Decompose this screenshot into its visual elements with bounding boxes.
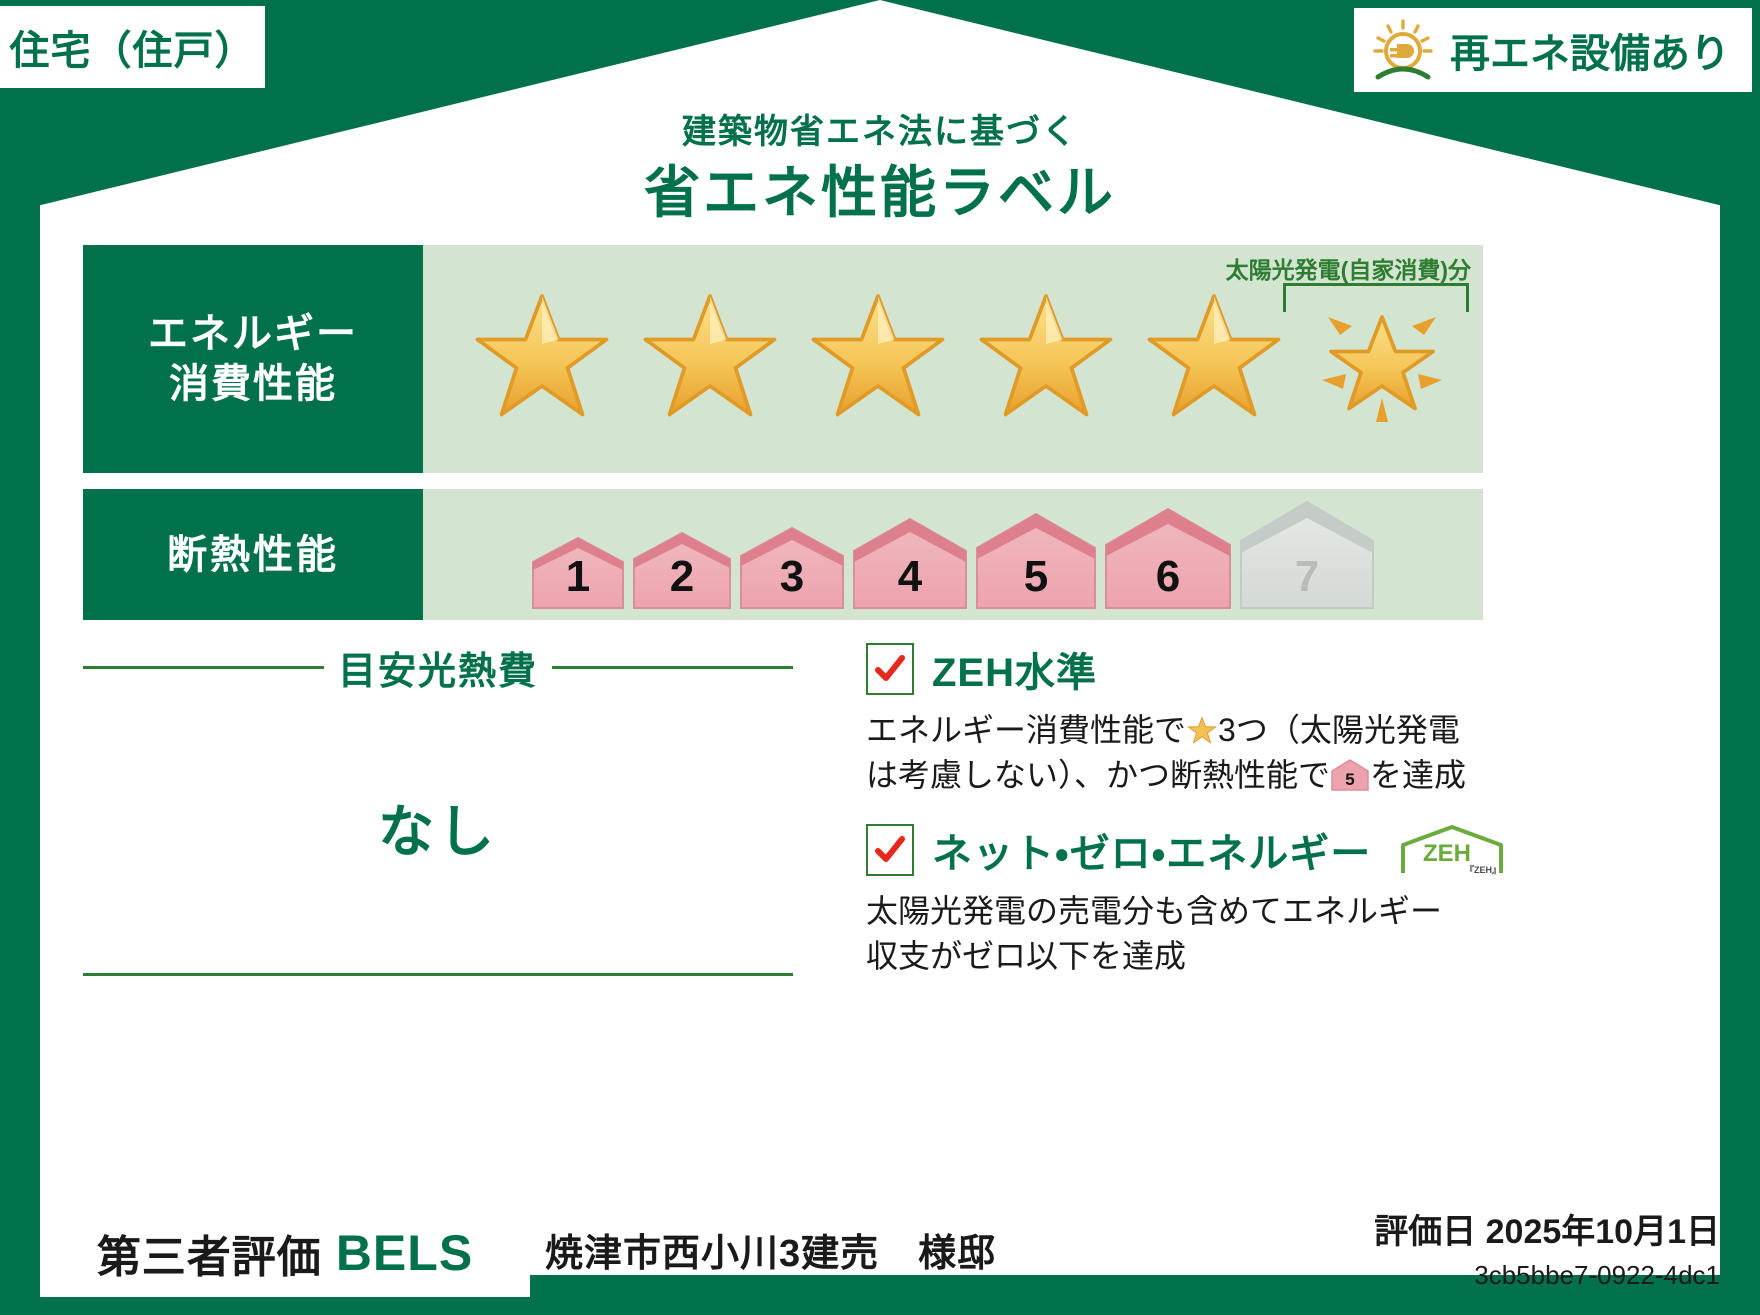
insulation-level-2: 2 <box>630 527 734 612</box>
insulation-level-number: 2 <box>630 552 734 602</box>
dwelling-type-tag: 住宅（住戸） <box>0 6 265 88</box>
zeh-desc-part4: を達成 <box>1370 757 1466 793</box>
dwelling-type-label: 住宅（住戸） <box>10 18 256 76</box>
star-icon <box>971 284 1121 434</box>
utility-cost-heading: 目安光熱費 <box>83 640 793 695</box>
star-icon <box>635 284 785 434</box>
heading-rule-left <box>83 666 324 669</box>
zeh-standard-checkbox[interactable] <box>866 643 914 695</box>
bels-japanese-label: 第三者評価 <box>97 1221 322 1285</box>
bonus-star-burst <box>1307 284 1457 434</box>
utility-cost-heading-text: 目安光熱費 <box>338 640 538 695</box>
star-rating <box>451 245 1483 473</box>
insulation-level-number: 5 <box>973 552 1099 602</box>
svg-text:5: 5 <box>1345 770 1354 789</box>
utility-cost-section: 目安光熱費 なし <box>83 640 793 976</box>
insulation-performance-body: 1 2 3 4 <box>423 489 1483 620</box>
insulation-label-text: 断熱性能 <box>167 530 339 580</box>
insulation-performance-row: 断熱性能 1 2 <box>83 489 1483 620</box>
insulation-level-5: 5 <box>973 508 1099 612</box>
star-icon <box>1186 715 1218 747</box>
insulation-level-4: 4 <box>850 513 970 612</box>
insulation-badge-icon: 5 <box>1330 760 1370 794</box>
zeh-logo: ZEH 『ZEH』 <box>1397 823 1507 877</box>
energy-label-line1: エネルギー <box>148 309 358 359</box>
zeh-spacer <box>866 799 1486 821</box>
energy-performance-body: 太陽光発電(自家消費)分 <box>423 245 1483 473</box>
insulation-performance-label: 断熱性能 <box>83 489 423 620</box>
title-subtitle: 建築物省エネ法に基づく <box>0 104 1760 153</box>
svg-text:『ZEH』: 『ZEH』 <box>1465 864 1501 875</box>
star-icon <box>1139 284 1289 434</box>
renewable-equipment-label: 再エネ設備あり <box>1450 21 1730 79</box>
net-zero-energy-checkbox[interactable] <box>866 824 914 876</box>
insulation-level-number: 4 <box>850 552 970 602</box>
evaluation-date: 評価日 2025年10月1日 <box>1374 1204 1720 1253</box>
insulation-level-7: 7 <box>1237 496 1377 612</box>
net-zero-desc-line2: 収支がゼロ以下を達成 <box>866 938 1186 974</box>
zeh-standard-header: ZEH水準 <box>866 640 1486 698</box>
star-icon <box>803 284 953 434</box>
insulation-level-6: 6 <box>1102 503 1234 612</box>
insulation-level-scale: 1 2 3 4 <box>423 489 1483 620</box>
insulation-level-number: 1 <box>529 552 627 602</box>
net-zero-energy-description: 太陽光発電の売電分も含めてエネルギー 収支がゼロ以下を達成 <box>866 889 1486 980</box>
zeh-standard-description: エネルギー消費性能で3つ（太陽光発電は考慮しない）、かつ断熱性能で5を達成 <box>866 708 1486 799</box>
bels-badge: 第三者評価 BELS <box>40 1209 530 1297</box>
evaluation-id: 3cb5bbe7-0922-4dc1 <box>1474 1260 1720 1291</box>
solar-panel-sun-icon <box>1370 17 1436 83</box>
net-zero-energy-title: ネット・ゼロ・エネルギー <box>932 821 1371 879</box>
net-zero-desc-line1: 太陽光発電の売電分も含めてエネルギー <box>866 893 1442 929</box>
star-icon <box>467 284 617 434</box>
check-icon <box>873 833 907 867</box>
bels-logo-text: BELS <box>336 1224 473 1282</box>
check-icon <box>873 652 907 686</box>
renewable-equipment-tag: 再エネ設備あり <box>1354 8 1752 92</box>
property-name: 焼津市西小川3建売 様邸 <box>545 1222 996 1277</box>
insulation-level-number: 3 <box>737 552 847 602</box>
zeh-desc-part1: エネルギー消費性能で <box>866 712 1186 748</box>
footer: 第三者評価 BELS 焼津市西小川3建売 様邸 評価日 2025年10月1日 3… <box>0 1175 1760 1315</box>
insulation-level-3: 3 <box>737 522 847 612</box>
insulation-level-1: 1 <box>529 532 627 612</box>
insulation-level-number: 6 <box>1102 552 1234 602</box>
energy-label-line2: 消費性能 <box>169 359 337 409</box>
zeh-section: ZEH水準 エネルギー消費性能で3つ（太陽光発電は考慮しない）、かつ断熱性能で5… <box>866 640 1486 980</box>
zeh-desc-part3: は考慮しない）、かつ断熱性能で <box>866 757 1330 793</box>
page-title: 省エネ性能ラベル <box>0 148 1760 229</box>
insulation-level-number: 7 <box>1237 552 1377 602</box>
zeh-desc-part2: 3つ（太陽光発電 <box>1218 712 1460 748</box>
heading-rule-right <box>552 666 793 669</box>
zeh-standard-title: ZEH水準 <box>932 640 1097 698</box>
svg-text:ZEH: ZEH <box>1423 840 1471 867</box>
utility-cost-value: なし <box>83 787 793 868</box>
utility-cost-bottom-rule <box>83 973 793 976</box>
energy-performance-label: エネルギー 消費性能 <box>83 245 423 473</box>
net-zero-energy-header: ネット・ゼロ・エネルギー ZEH 『ZEH』 <box>866 821 1486 879</box>
energy-performance-row: エネルギー 消費性能 太陽光発電(自家消費)分 <box>83 245 1483 473</box>
